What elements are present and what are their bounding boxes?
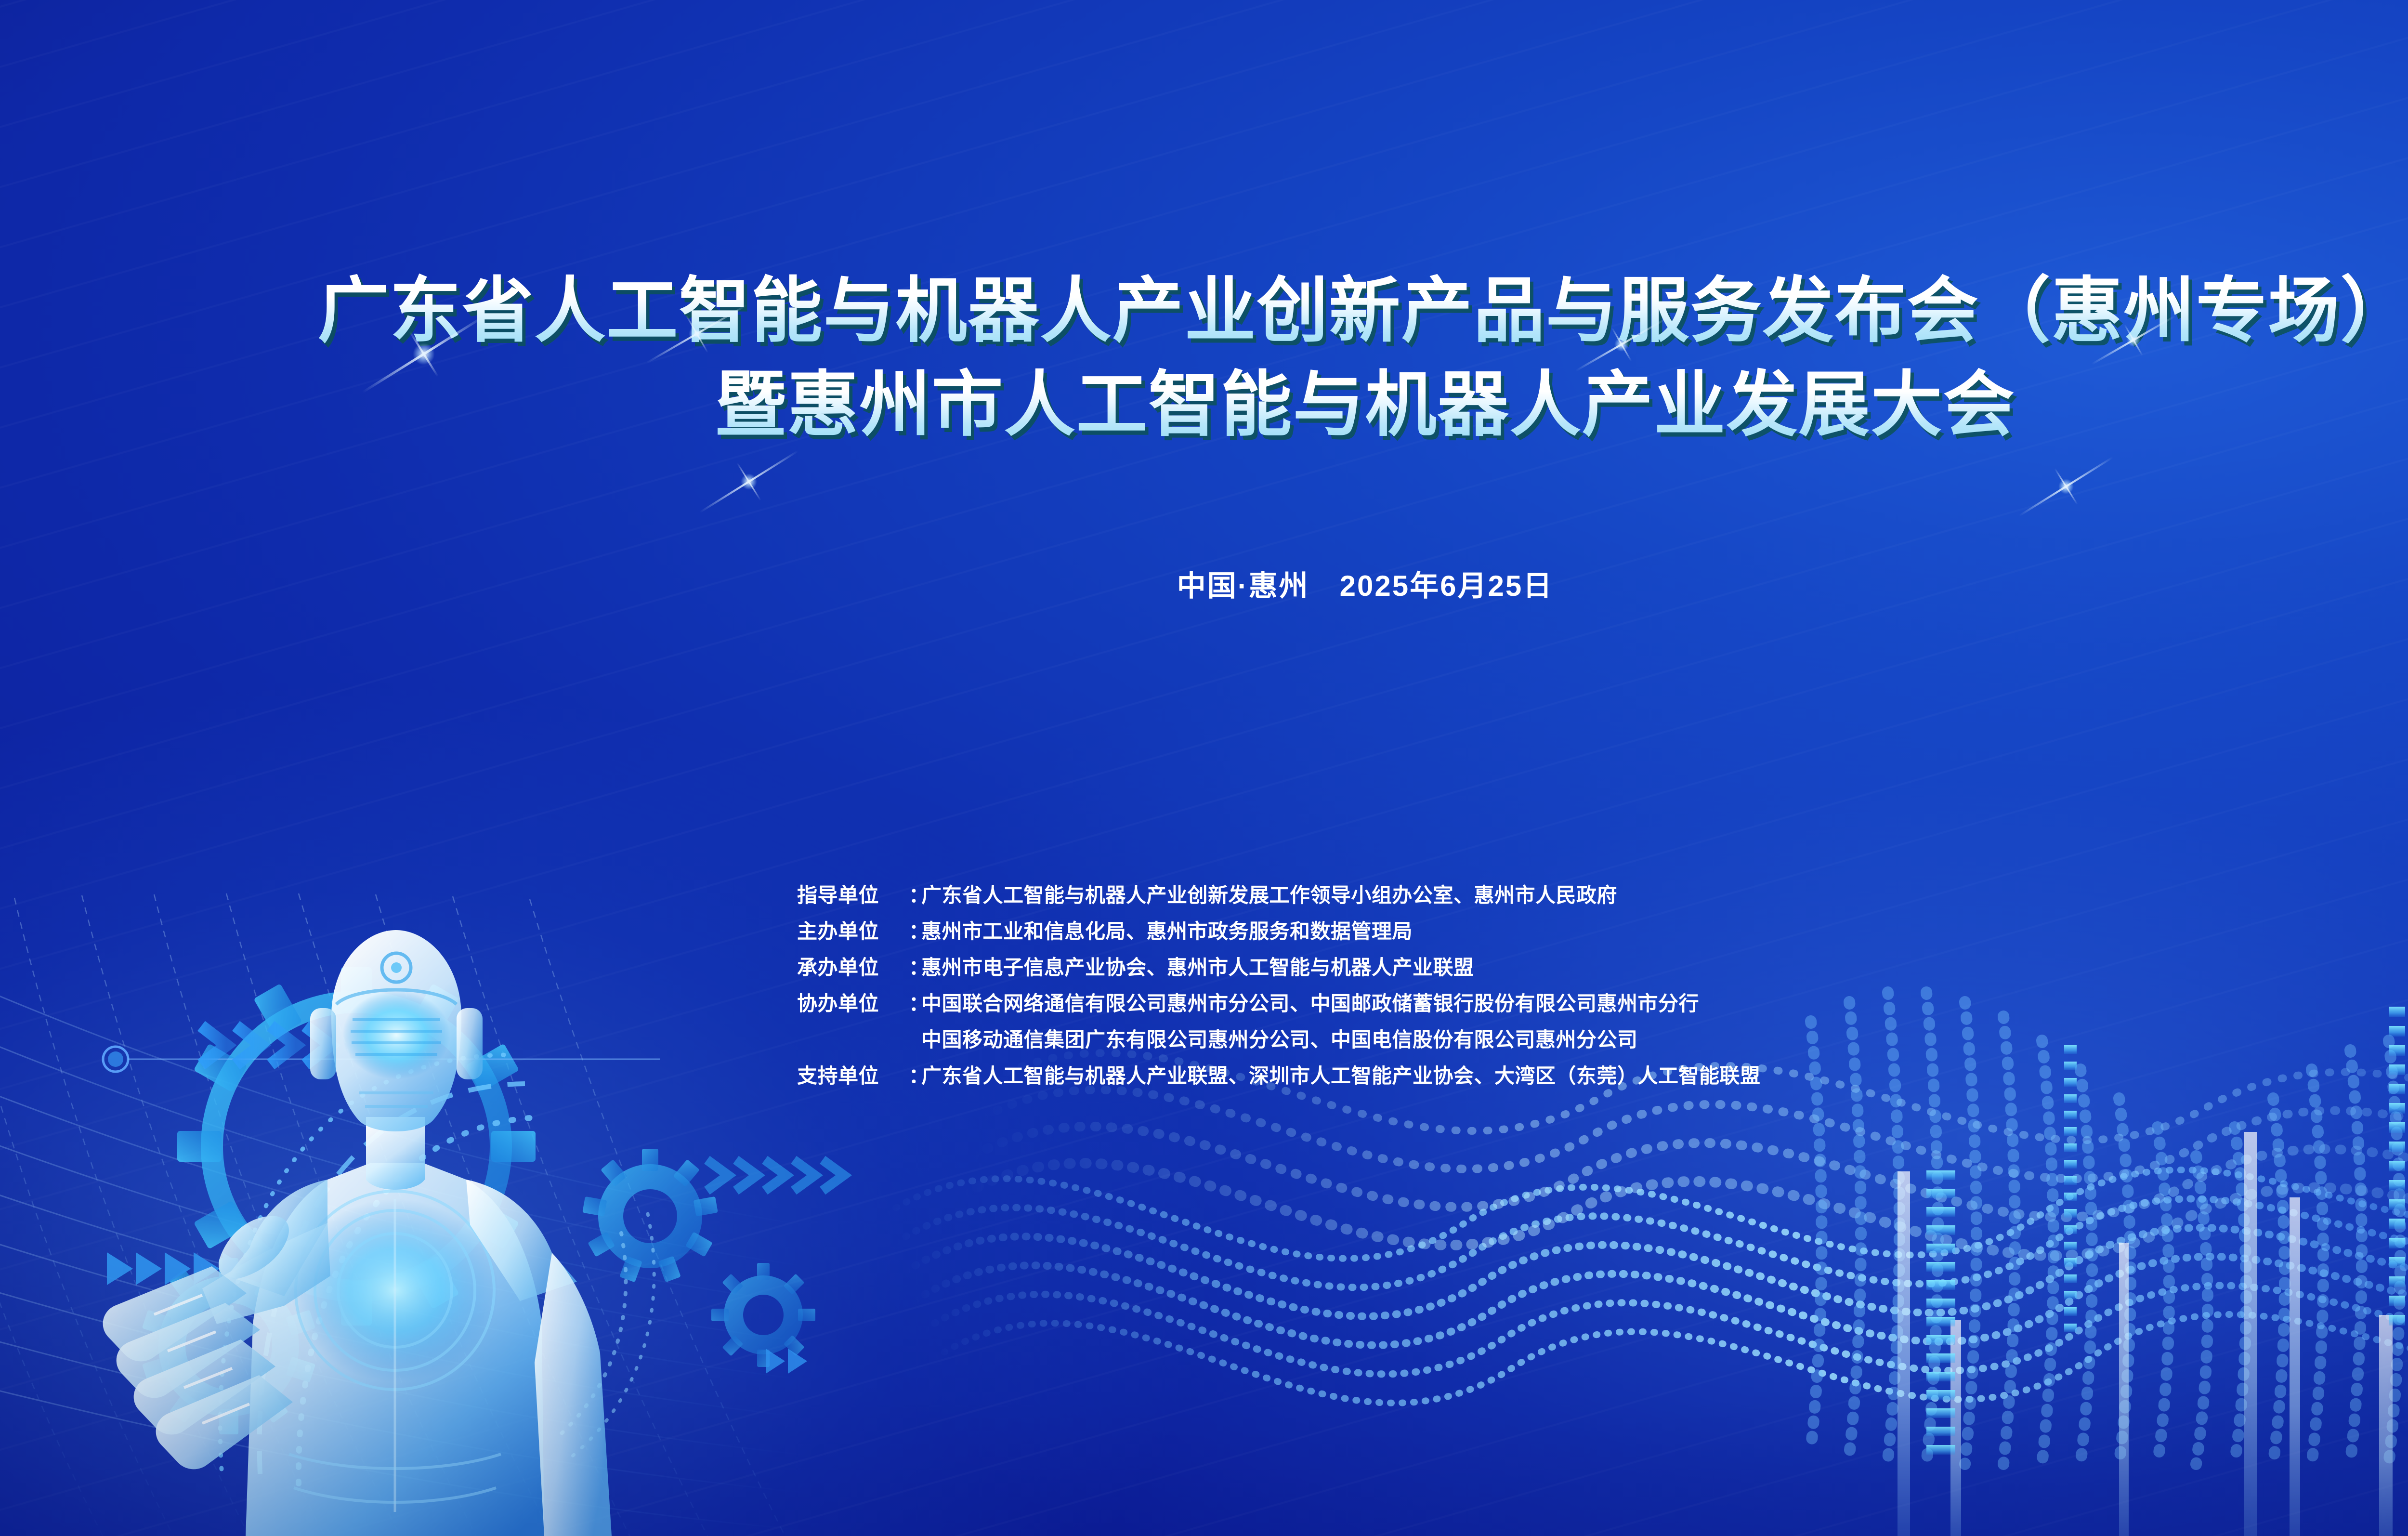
humanoid-robot-figure <box>58 891 722 1536</box>
organizer-label: 指导单位 <box>797 885 909 906</box>
organizer-value: 广东省人工智能与机器人产业创新发展工作领导小组办公室、惠州市人民政府 <box>921 885 1617 906</box>
organizer-value: 中国移动通信集团广东有限公司惠州分公司、中国电信股份有限公司惠州分公司 <box>921 1030 1638 1050</box>
ai-logo-glow <box>2352 1309 2408 1468</box>
event-title-line-1: 广东省人工智能与机器人产业创新产品与服务发布会（惠州专场） <box>0 268 2408 355</box>
sparkle-glint-5 <box>689 443 809 520</box>
organizer-value: 惠州市电子信息产业协会、惠州市人工智能与机器人产业联盟 <box>921 958 1474 978</box>
organizer-separator: ： <box>909 885 921 906</box>
organizer-value: 惠州市工业和信息化局、惠州市政务服务和数据管理局 <box>921 921 1413 942</box>
organizer-row-supporter: 支持单位 ： 广东省人工智能与机器人产业联盟、深圳市人工智能产业协会、大湾区（东… <box>797 1066 1761 1086</box>
organizer-row-undertaker: 承办单位 ： 惠州市电子信息产业协会、惠州市人工智能与机器人产业联盟 <box>797 958 1761 978</box>
sparkle-glint-6 <box>2008 448 2124 525</box>
organizer-list: 指导单位 ： 广东省人工智能与机器人产业创新发展工作领导小组办公室、惠州市人民政… <box>797 885 1761 1102</box>
organizer-label: 主办单位 <box>797 921 909 942</box>
organizer-value: 广东省人工智能与机器人产业联盟、深圳市人工智能产业协会、大湾区（东莞）人工智能联… <box>921 1066 1761 1086</box>
organizer-separator: ： <box>909 958 921 978</box>
organizer-row-coorganizer: 协办单位 ： 中国联合网络通信有限公司惠州市分公司、中国邮政储蓄银行股份有限公司… <box>797 994 1761 1014</box>
organizer-row-host: 主办单位 ： 惠州市工业和信息化局、惠州市政务服务和数据管理局 <box>797 921 1761 942</box>
organizer-separator: ： <box>909 1066 921 1086</box>
organizer-label: 支持单位 <box>797 1066 909 1086</box>
event-subtitle: 中国·惠州 2025年6月25日 <box>0 563 2408 604</box>
organizer-row-guidance: 指导单位 ： 广东省人工智能与机器人产业创新发展工作领导小组办公室、惠州市人民政… <box>797 885 1761 906</box>
organizer-separator: ： <box>909 994 921 1014</box>
conference-backdrop: 广东省人工智能与机器人产业创新产品与服务发布会（惠州专场） 暨惠州市人工智能与机… <box>0 0 2408 1536</box>
organizer-label: 承办单位 <box>797 958 909 978</box>
organizer-separator: ： <box>909 921 921 942</box>
event-title-line-2: 暨惠州市人工智能与机器人产业发展大会 <box>0 362 2408 449</box>
organizer-label: 协办单位 <box>797 994 909 1014</box>
organizer-row-coorganizer-continued: 中国移动通信集团广东有限公司惠州分公司、中国电信股份有限公司惠州分公司 <box>797 1030 1761 1050</box>
organizer-value: 中国联合网络通信有限公司惠州市分公司、中国邮政储蓄银行股份有限公司惠州市分行 <box>921 994 1699 1014</box>
title-block: 广东省人工智能与机器人产业创新产品与服务发布会（惠州专场） 暨惠州市人工智能与机… <box>0 268 2408 448</box>
